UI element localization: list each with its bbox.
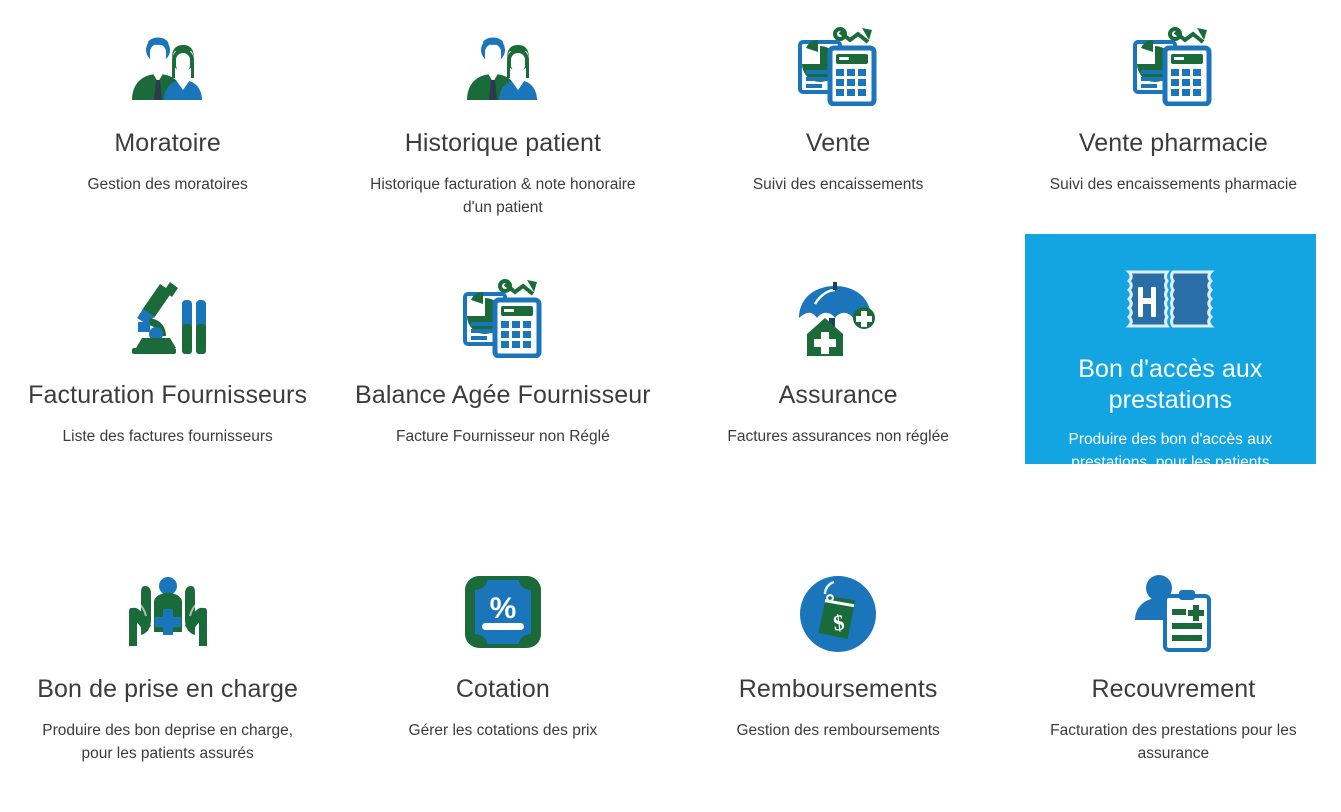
voucher-hospital-icon	[1122, 266, 1218, 338]
tile-description: Liste des factures fournisseurs	[63, 425, 273, 448]
person-clipboard-icon	[1125, 564, 1221, 660]
module-tile-grid: Moratoire Gestion des moratoires Histori…	[0, 0, 1341, 812]
tile-remboursements[interactable]: $ Remboursements Gestion des rembourseme…	[671, 522, 1006, 812]
tile-assurance[interactable]: Assurance Factures assurances non réglée	[671, 232, 1006, 522]
tile-cotation[interactable]: % Cotation Gérer les cotations des prix	[335, 522, 670, 812]
tile-title: Assurance	[779, 380, 898, 411]
two-people-icon	[455, 18, 551, 114]
tile-vente[interactable]: Vente Suivi des encaissements	[671, 0, 1006, 232]
tile-balance-agee-fournisseur[interactable]: Balance Agée Fournisseur Facture Fournis…	[335, 232, 670, 522]
calculator-chart-icon	[1125, 18, 1221, 114]
tile-description: Factures assurances non réglée	[727, 425, 948, 448]
tile-vente-pharmacie[interactable]: Vente pharmacie Suivi des encaissements …	[1006, 0, 1341, 232]
tile-title: Vente pharmacie	[1079, 128, 1268, 159]
tile-description: Historique facturation & note honoraire …	[368, 173, 638, 219]
tile-title: Recouvrement	[1091, 674, 1255, 705]
svg-text:%: %	[490, 592, 517, 625]
price-tag-dollar-icon: $	[790, 564, 886, 660]
hands-patient-icon	[120, 564, 216, 660]
tile-title: Cotation	[456, 674, 550, 705]
tile-title: Facturation Fournisseurs	[28, 380, 307, 411]
tile-description: Suivi des encaissements	[753, 173, 924, 196]
tile-description: Gérer les cotations des prix	[409, 719, 598, 742]
tile-title: Vente	[806, 128, 870, 159]
percent-tag-icon: %	[455, 564, 551, 660]
tile-description: Gestion des remboursements	[736, 719, 939, 742]
tile-description: Produire des bon d'accès aux prestations…	[1055, 428, 1285, 497]
calculator-chart-icon	[455, 270, 551, 366]
tile-description: Suivi des encaissements pharmacie	[1050, 173, 1297, 196]
tile-title: Remboursements	[739, 674, 938, 705]
tile-description: Produire des bon deprise en charge, pour…	[33, 719, 303, 765]
tile-recouvrement[interactable]: Recouvrement Facturation des prestations…	[1006, 522, 1341, 812]
umbrella-house-icon	[790, 270, 886, 366]
tile-description: Facturation des prestations pour les ass…	[1038, 719, 1308, 765]
tile-description: Gestion des moratoires	[88, 173, 248, 196]
tile-bon-acces-prestations[interactable]: Bon d'accès aux prestations Produire des…	[1025, 234, 1316, 464]
tile-moratoire[interactable]: Moratoire Gestion des moratoires	[0, 0, 335, 232]
tile-title: Bon d'accès aux prestations	[1043, 354, 1298, 416]
two-people-icon	[120, 18, 216, 114]
tile-historique-patient[interactable]: Historique patient Historique facturatio…	[335, 0, 670, 232]
tile-title: Historique patient	[405, 128, 601, 159]
tile-title: Moratoire	[114, 128, 221, 159]
tile-title: Balance Agée Fournisseur	[355, 380, 651, 411]
tile-facturation-fournisseurs[interactable]: Facturation Fournisseurs Liste des factu…	[0, 232, 335, 522]
microscope-icon	[120, 270, 216, 366]
tile-title: Bon de prise en charge	[37, 674, 298, 705]
tile-description: Facture Fournisseur non Réglé	[396, 425, 610, 448]
tile-bon-prise-en-charge[interactable]: Bon de prise en charge Produire des bon …	[0, 522, 335, 812]
calculator-chart-icon	[790, 18, 886, 114]
